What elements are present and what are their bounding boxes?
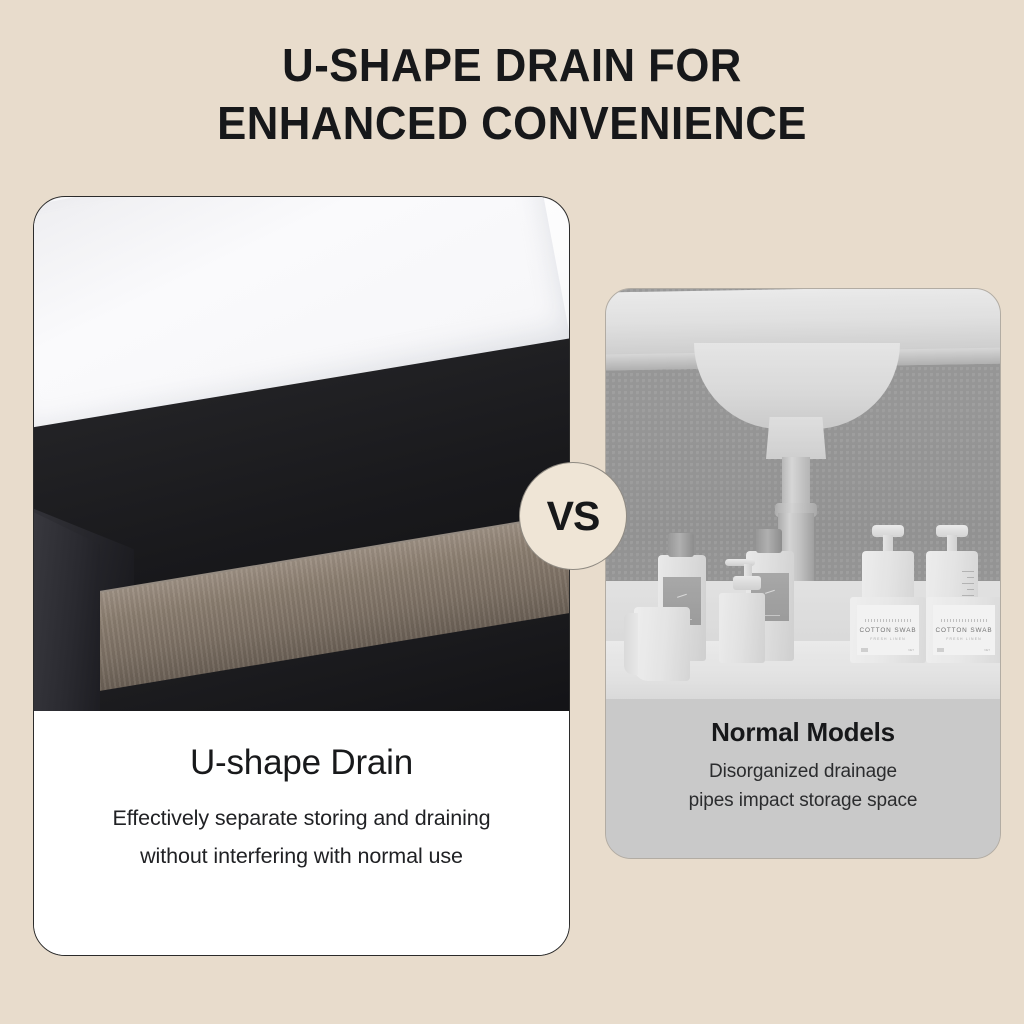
pump-bottle-right-2-head-icon <box>936 525 968 551</box>
normal-models-caption-body-line-1: Disorganized drainage <box>628 757 978 786</box>
vs-badge-label: VS <box>547 493 600 540</box>
comparison-card-ushape-drain: COTTON SWAB FRESH LINEN NET 50 PC BEAUTY… <box>33 196 570 956</box>
product-pump-bottle-front <box>719 593 765 663</box>
shampoo-bottle-1-cap <box>668 533 694 557</box>
product-folded-towel <box>634 607 690 681</box>
sink-bowl-base <box>766 417 826 459</box>
ushape-drain-caption-body: Effectively separate storing and drainin… <box>78 799 525 875</box>
cotton-swab-jar-2-footnote: NET <box>984 648 990 652</box>
page-title-line-2: ENHANCED CONVENIENCE <box>26 94 999 152</box>
page-title-line-1: U-SHAPE DRAIN FOR <box>26 36 999 94</box>
page-title: U-SHAPE DRAIN FOR ENHANCED CONVENIENCE <box>26 36 999 152</box>
cotton-swab-jar-1-title: COTTON SWAB <box>859 627 916 634</box>
product-cotton-swab-jar-1: COTTON SWAB FRESH LINEN NET <box>850 597 926 663</box>
dotted-divider-icon <box>941 619 987 622</box>
ushape-drain-caption-title: U-shape Drain <box>78 743 525 783</box>
normal-models-caption-title: Normal Models <box>628 717 978 748</box>
normal-models-caption-body-line-2: pipes impact storage space <box>628 786 978 815</box>
vs-badge: VS <box>519 462 627 570</box>
cotton-swab-jar-2-title: COTTON SWAB <box>935 627 992 634</box>
comparison-card-normal-models: COTTON SWAB FRESH LINEN NET COTTON SWAB … <box>605 288 1001 859</box>
drawer-carcass-side <box>34 509 100 711</box>
cotton-swab-jar-1-subtitle: FRESH LINEN <box>870 637 906 641</box>
cotton-swab-jar-1-footnote: NET <box>908 648 914 652</box>
product-cotton-swab-jar-2: COTTON SWAB FRESH LINEN NET <box>926 597 1000 663</box>
ushape-drain-caption: U-shape Drain Effectively separate stori… <box>34 711 569 956</box>
cotton-swab-jar-2-subtitle: FRESH LINEN <box>946 637 982 641</box>
normal-models-photo: COTTON SWAB FRESH LINEN NET COTTON SWAB … <box>606 289 1000 699</box>
normal-models-caption: Normal Models Disorganized drainage pipe… <box>606 699 1000 859</box>
pump-bottle-front-head-icon <box>725 559 759 593</box>
shampoo-bottle-2-cap <box>756 529 782 553</box>
cotton-swab-jar-2-label: COTTON SWAB FRESH LINEN NET <box>933 605 995 655</box>
barcode-icon <box>937 648 944 652</box>
barcode-icon <box>861 648 868 652</box>
cotton-swab-jar-1-label: COTTON SWAB FRESH LINEN NET <box>857 605 919 655</box>
pump-bottle-right-1-head-icon <box>872 525 904 551</box>
ushape-drain-photo: COTTON SWAB FRESH LINEN NET 50 PC BEAUTY… <box>34 197 569 711</box>
dotted-divider-icon <box>865 619 911 622</box>
